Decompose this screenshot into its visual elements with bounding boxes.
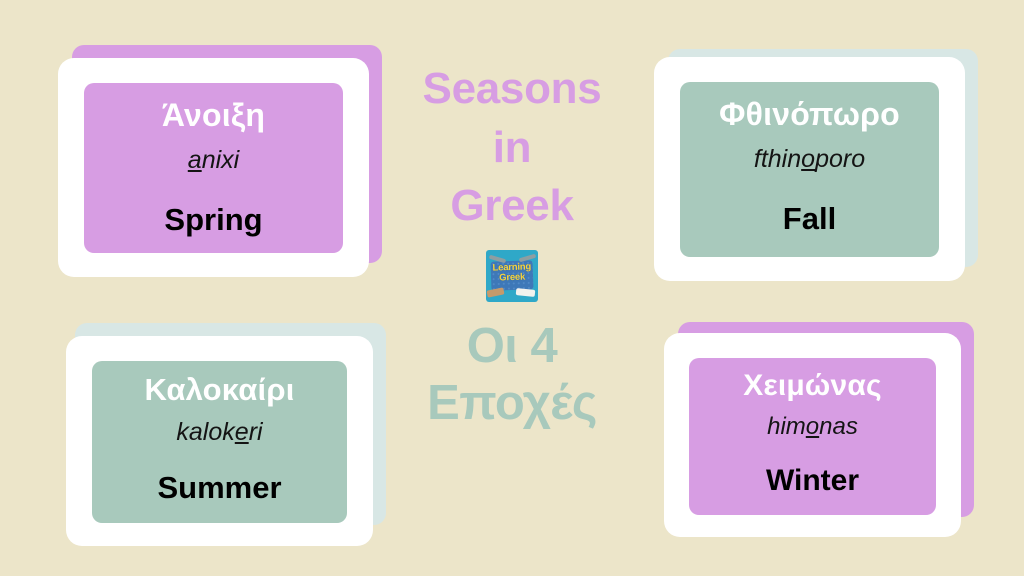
subtitle-line-2: Εποχές	[427, 375, 597, 433]
translit-suffix: nixi	[202, 146, 240, 174]
translit-prefix: him	[767, 413, 806, 440]
flashcard-summer[interactable]: Καλοκαίρι kalokeri Summer	[66, 323, 386, 546]
scroll-tan-icon	[486, 287, 504, 297]
greek-word-summer: Καλοκαίρι	[144, 374, 294, 405]
subtitle-line-1: Οι 4	[427, 318, 597, 376]
translit-stress: a	[188, 146, 202, 174]
card-panel-summer: Καλοκαίρι kalokeri Summer	[92, 361, 347, 523]
flashcard-winter[interactable]: Χειμώνας himonas Winter	[664, 322, 974, 537]
card-panel-fall: Φθινόπωρο fthinoporo Fall	[680, 82, 939, 257]
greek-word-spring: Άνοιξη	[162, 99, 265, 131]
translit-stress: o	[806, 413, 819, 440]
translit-stress: o	[801, 145, 815, 173]
greek-word-winter: Χειμώνας	[743, 371, 882, 401]
scroll-white-icon	[516, 288, 536, 297]
transliteration-summer: kalokeri	[176, 420, 262, 445]
logo-text: Learning Greek	[486, 262, 538, 284]
translit-prefix: fthin	[754, 145, 801, 173]
english-word-spring: Spring	[164, 204, 262, 235]
translit-suffix: ri	[249, 418, 263, 446]
slide-canvas: Άνοιξη anixi Spring Φθινόπωρο fthinoporo…	[0, 0, 1024, 576]
translit-stress: e	[235, 418, 249, 446]
english-word-winter: Winter	[766, 466, 859, 496]
card-panel-winter: Χειμώνας himonas Winter	[689, 358, 936, 515]
center-column: Seasons in Greek Learning Greek Οι 4 Επο…	[386, 60, 638, 530]
title-line-2: in	[423, 119, 602, 178]
greek-word-fall: Φθινόπωρο	[719, 98, 900, 130]
transliteration-winter: himonas	[767, 415, 858, 439]
card-panel-spring: Άνοιξη anixi Spring	[84, 83, 343, 253]
transliteration-fall: fthinoporo	[754, 147, 865, 172]
flashcard-fall[interactable]: Φθινόπωρο fthinoporo Fall	[654, 49, 979, 281]
learning-greek-logo-icon[interactable]: Learning Greek	[486, 250, 538, 302]
english-word-fall: Fall	[783, 203, 836, 234]
english-word-summer: Summer	[157, 472, 281, 503]
transliteration-spring: anixi	[188, 148, 239, 173]
translit-suffix: nas	[819, 413, 858, 440]
page-subtitle: Οι 4 Εποχές	[427, 318, 597, 434]
page-title: Seasons in Greek	[423, 60, 602, 236]
title-line-3: Greek	[423, 177, 602, 236]
flashcard-spring[interactable]: Άνοιξη anixi Spring	[58, 45, 383, 277]
title-line-1: Seasons	[423, 60, 602, 119]
translit-prefix: kalok	[176, 418, 234, 446]
translit-suffix: poro	[815, 145, 865, 173]
